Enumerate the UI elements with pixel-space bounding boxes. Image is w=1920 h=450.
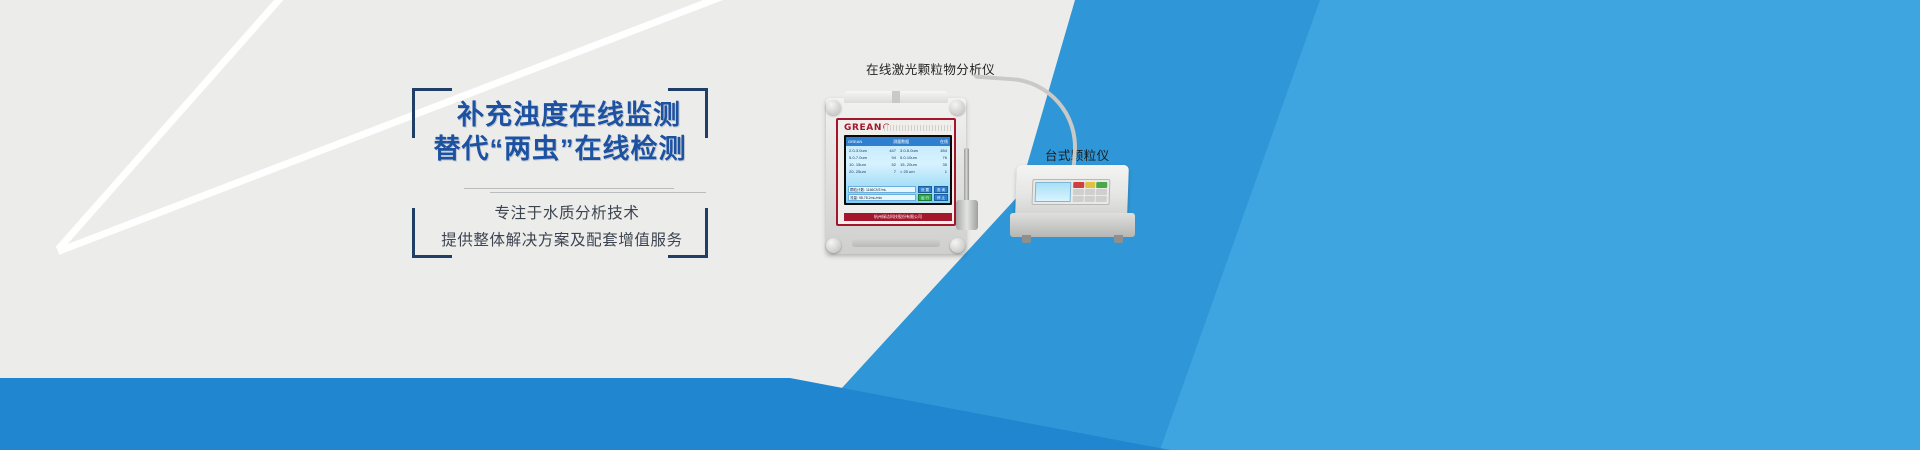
data-value: 7 (894, 169, 896, 175)
display-title-left: GREAN (848, 139, 862, 144)
benchtop-display (1035, 182, 1072, 202)
display-footer: 颗粒计数: 1166CNT/mL 设 置 查 询 流量: 98.78.2mL/m… (848, 185, 948, 201)
display-title-center: 测量数据 (893, 139, 909, 145)
vent-grille (884, 125, 952, 131)
display-row-count: 颗粒计数: 1166CNT/mL 设 置 查 询 (848, 186, 948, 193)
data-value: 447 (889, 148, 896, 154)
headline-line-2: 替代“两虫”在线检测 (412, 132, 708, 166)
analyser-bolt-top-right (950, 100, 965, 115)
data-label: 2.0-3.0um (849, 148, 867, 154)
data-value: 454 (940, 148, 947, 154)
data-label: 20- 25um (849, 169, 866, 175)
divider-line-2 (490, 192, 706, 193)
keypad-key[interactable] (1073, 196, 1084, 202)
query-button[interactable]: 查 询 (934, 186, 948, 193)
analyser-top-gap (892, 91, 900, 103)
keypad-key[interactable] (1085, 182, 1096, 188)
data-row: > 25 um1 (900, 169, 947, 175)
keypad-key[interactable] (1096, 196, 1107, 202)
data-row: 15- 20um35 (900, 162, 947, 168)
data-row: 10- 15um52 (849, 162, 896, 168)
subtitle-line-2: 提供整体解决方案及配套增值服务 (412, 227, 708, 254)
analyser-base (852, 238, 940, 247)
divider-line-1 (464, 188, 674, 189)
stop-button[interactable]: 停 止 (934, 194, 948, 201)
keypad-key[interactable] (1073, 182, 1084, 188)
promo-banner: 补充浊度在线监测 替代“两虫”在线检测 专注于水质分析技术 提供整体解决方案及配… (0, 0, 1920, 450)
analyser-bolt-bottom-right (950, 238, 965, 253)
headline-text-block: 补充浊度在线监测 替代“两虫”在线检测 专注于水质分析技术 提供整体解决方案及配… (412, 88, 708, 258)
display-titlebar: GREAN 测量数据 在线 (846, 137, 950, 146)
data-value: 1 (945, 169, 947, 175)
data-label: > 25 um (900, 169, 915, 175)
benchtop-foot-right (1114, 235, 1123, 243)
device-benchtop-particle-counter (1010, 165, 1135, 250)
analyser-sensor-module (956, 200, 978, 230)
count-field: 颗粒计数: 1166CNT/mL (848, 186, 916, 193)
data-value: 76 (943, 155, 947, 161)
data-value: 52 (892, 162, 896, 168)
benchtop-keypad[interactable] (1073, 182, 1108, 202)
keypad-key[interactable] (1096, 182, 1107, 188)
status-badge: 运 行 中 (918, 194, 932, 201)
data-row: 5.0-10um76 (900, 155, 947, 161)
analyser-front-panel: GREAN® GREAN 测量数据 在线 2.0-3.0um447 3.0-5.… (836, 118, 956, 226)
analyser-display[interactable]: GREAN 测量数据 在线 2.0-3.0um447 3.0-5.0um454 … (844, 135, 952, 205)
device-online-laser-particle-analyser: GREAN® GREAN 测量数据 在线 2.0-3.0um447 3.0-5.… (822, 88, 970, 260)
analyser-bolt-top-left (826, 100, 841, 115)
data-value: 35 (943, 162, 947, 168)
display-data-grid: 2.0-3.0um447 3.0-5.0um454 5.0-7.0um94 5.… (846, 146, 950, 177)
keypad-key[interactable] (1096, 189, 1107, 195)
headline-line-1: 补充浊度在线监测 (412, 98, 708, 132)
keypad-key[interactable] (1073, 189, 1084, 195)
data-label: 3.0-5.0um (900, 148, 918, 154)
data-row: 3.0-5.0um454 (900, 148, 947, 154)
data-label: 5.0-7.0um (849, 155, 867, 161)
benchtop-base (1010, 213, 1135, 237)
benchtop-control-panel[interactable] (1032, 179, 1111, 205)
display-surface: GREAN 测量数据 在线 2.0-3.0um447 3.0-5.0um454 … (846, 137, 950, 203)
data-row: 5.0-7.0um94 (849, 155, 896, 161)
data-value: 94 (892, 155, 896, 161)
data-row: 20- 25um7 (849, 169, 896, 175)
benchtop-housing (1015, 165, 1129, 217)
subtitle-group: 专注于水质分析技术 提供整体解决方案及配套增值服务 (412, 200, 708, 254)
keypad-key[interactable] (1084, 196, 1095, 202)
display-row-flow: 流量: 98.78.2mL/min 运 行 中 停 止 (848, 194, 948, 201)
data-label: 10- 15um (849, 162, 866, 168)
page-title: 补充浊度在线监测 替代“两虫”在线检测 (412, 98, 708, 166)
data-row: 2.0-3.0um447 (849, 148, 896, 154)
display-title-right: 在线 (940, 139, 948, 145)
subtitle-line-1: 专注于水质分析技术 (412, 200, 708, 227)
data-label: 5.0-10um (900, 155, 917, 161)
flow-field: 流量: 98.78.2mL/min (848, 194, 916, 201)
manufacturer-label: 杭州绿洁科技股份有限公司 (844, 213, 952, 221)
benchtop-foot-left (1022, 235, 1031, 243)
keypad-key[interactable] (1085, 189, 1096, 195)
data-label: 15- 20um (900, 162, 917, 168)
analyser-bolt-bottom-left (826, 238, 841, 253)
settings-button[interactable]: 设 置 (918, 186, 932, 193)
